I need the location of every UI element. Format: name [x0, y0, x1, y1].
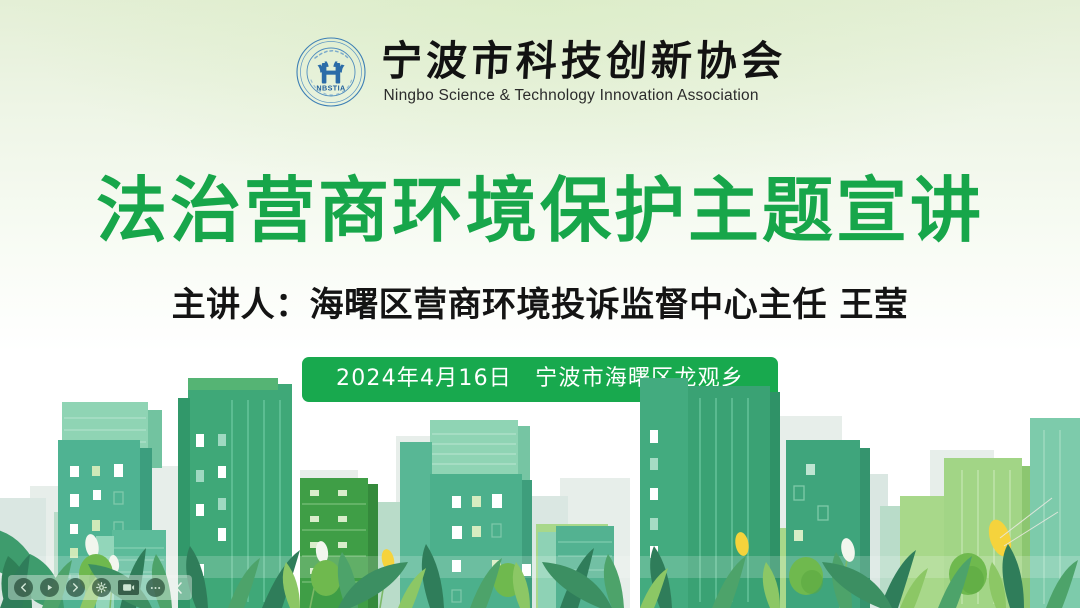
previous-button[interactable] [14, 578, 33, 597]
organization-wordmark: 宁波市科技创新协会 Ningbo Science & Technology In… [381, 39, 786, 105]
organization-header: NBSTIA 宁波市科技创新协会 Ningbo Science & Techno… [0, 36, 1080, 108]
play-button[interactable] [40, 578, 59, 597]
nbstia-circular-seal-icon: NBSTIA [295, 36, 367, 108]
presentation-slide: NBSTIA 宁波市科技创新协会 Ningbo Science & Techno… [0, 0, 1080, 608]
screen-share-button[interactable] [118, 580, 139, 595]
org-name-cn: 宁波市科技创新协会 [379, 39, 786, 83]
presenter-subtitle: 主讲人：海曙区营商环境投诉监督中心主任 王莹 [0, 288, 1080, 322]
svg-text:NBSTIA: NBSTIA [316, 84, 345, 93]
org-name-en: Ningbo Science & Technology Innovation A… [381, 87, 759, 105]
next-button[interactable] [66, 578, 85, 597]
settings-button[interactable] [92, 578, 111, 597]
collapse-button[interactable] [172, 578, 186, 597]
more-options-button[interactable] [146, 578, 165, 597]
page-title: 法治营商环境保护主题宣讲 [0, 175, 1080, 246]
city-skyline-illustration [0, 378, 1080, 608]
media-playback-toolbar[interactable] [8, 575, 192, 600]
